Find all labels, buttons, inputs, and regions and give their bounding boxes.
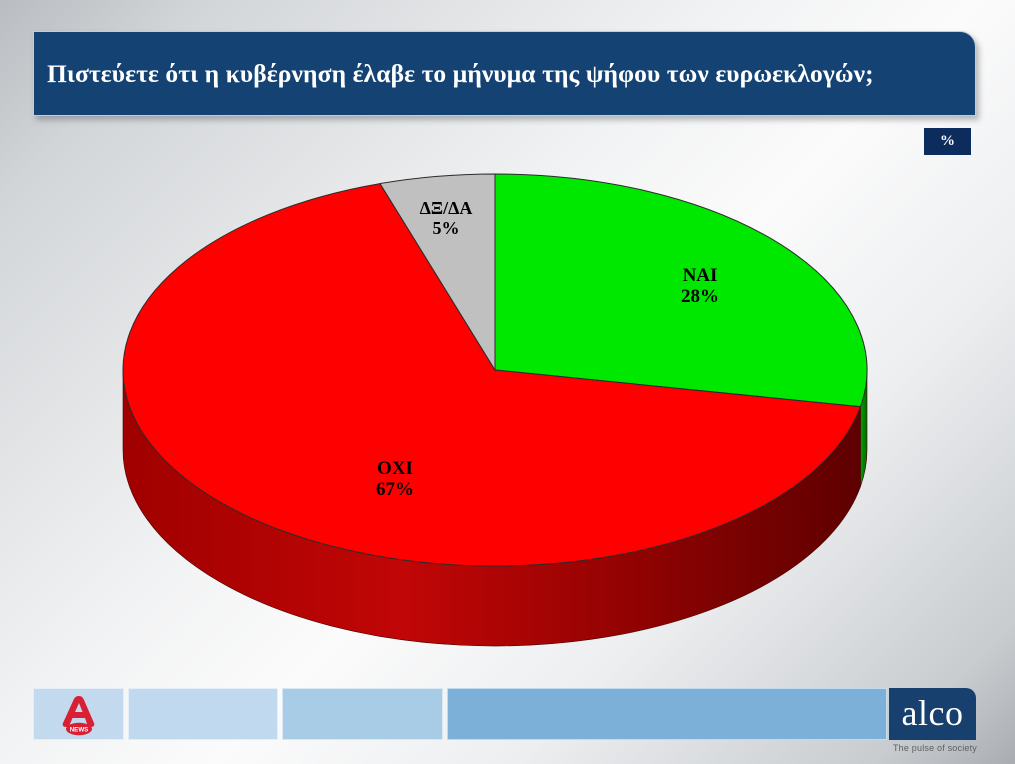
footer-block-3 xyxy=(282,688,443,740)
footer-block-alpha-news: NEWS xyxy=(33,688,124,740)
pie-label-oxi: ΟΧΙ 67% xyxy=(335,458,455,501)
pie-label-nai-name: ΝΑΙ xyxy=(640,265,760,286)
pie-chart: ΝΑΙ 28% ΟΧΙ 67% ΔΞ/ΔΑ 5% xyxy=(0,0,1015,700)
pie-label-dxda-value: 5% xyxy=(386,218,506,238)
pie-label-oxi-name: ΟΧΙ xyxy=(335,458,455,479)
pie-label-dxda-name: ΔΞ/ΔΑ xyxy=(386,198,506,218)
footer-block-4 xyxy=(447,688,887,740)
pie-label-nai-value: 28% xyxy=(640,286,760,307)
pie-chart-svg xyxy=(0,0,1015,700)
alco-logo: alco xyxy=(889,688,976,740)
footer-block-2 xyxy=(128,688,278,740)
footer-bar: NEWS alco The pulse of society xyxy=(0,688,1015,764)
alpha-news-logo-icon: NEWS xyxy=(56,693,102,738)
alco-tagline: The pulse of society xyxy=(889,743,981,753)
pie-label-oxi-value: 67% xyxy=(335,479,455,500)
pie-geometry xyxy=(123,174,867,646)
alco-wordmark: alco xyxy=(889,688,976,740)
pie-label-dxda: ΔΞ/ΔΑ 5% xyxy=(386,198,506,238)
pie-label-nai: ΝΑΙ 28% xyxy=(640,265,760,308)
alpha-news-label: NEWS xyxy=(70,727,89,734)
